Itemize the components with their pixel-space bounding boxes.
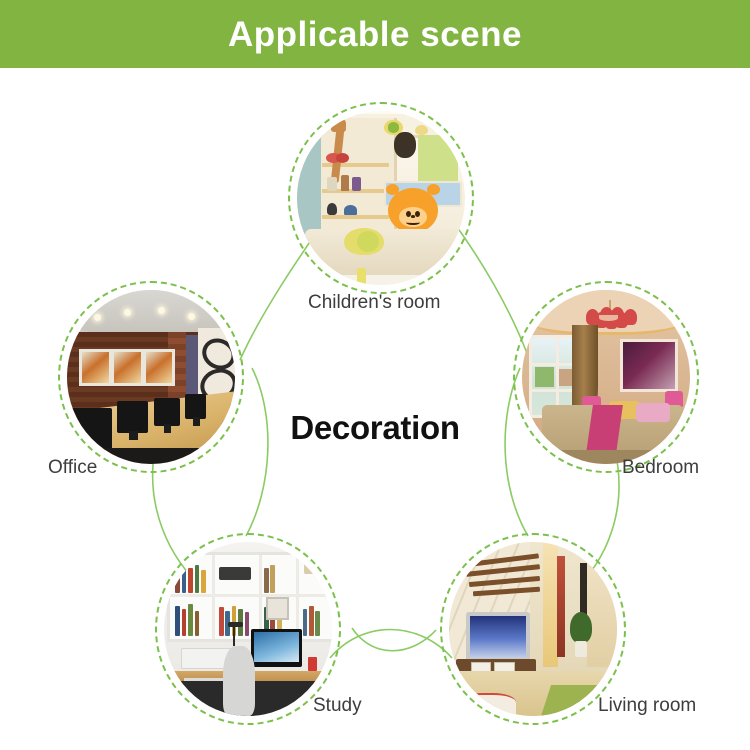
scene-label-living-room: Living room: [598, 695, 696, 717]
scene-label-study: Study: [313, 695, 362, 717]
scene-node-children[interactable]: [288, 102, 474, 294]
dashed-ring-children: [288, 102, 474, 294]
scene-label-children: Children's room: [308, 292, 440, 314]
diagram-center-label: Decoration: [0, 409, 750, 447]
applicable-scene-diagram: Children's room: [0, 68, 750, 750]
header-banner: Applicable scene: [0, 0, 750, 68]
page-title: Applicable scene: [228, 17, 522, 52]
scene-label-office: Office: [48, 457, 97, 479]
scene-label-bedroom: Bedroom: [622, 457, 699, 479]
